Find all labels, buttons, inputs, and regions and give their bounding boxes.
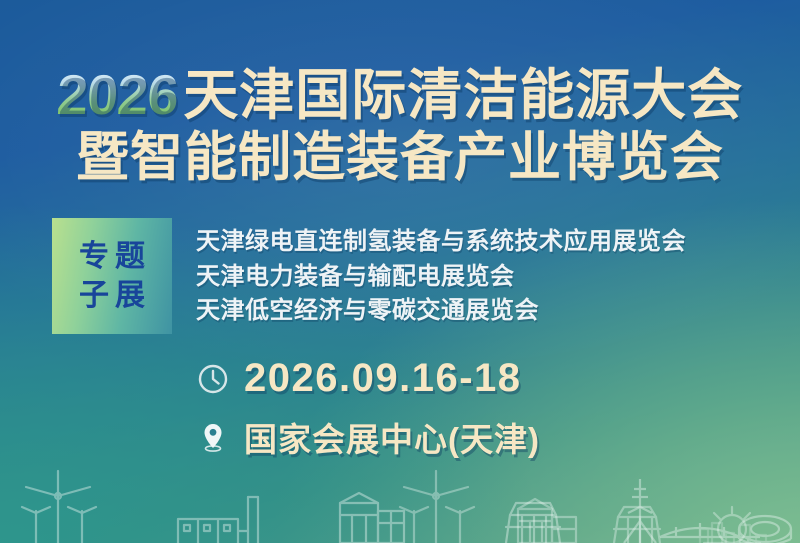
title-line-1: 2026天津国际清洁能源大会 <box>0 66 800 124</box>
industrial-building-icon-right <box>518 499 576 543</box>
solar-energy-icon <box>704 507 760 543</box>
stadium-icon <box>739 516 791 543</box>
badge-line-1: 专题 <box>73 241 151 273</box>
tv-tower-icon <box>624 479 656 543</box>
distant-skyline-icon <box>700 523 766 543</box>
event-year: 2026 <box>55 66 179 124</box>
city-skyline-silhouette-right <box>0 463 800 543</box>
event-date: 2026.09.16-18 <box>244 356 522 401</box>
event-info-block: 2026.09.16-18 国家会展中心(天津) <box>196 356 540 473</box>
city-skyline-silhouette <box>0 463 800 543</box>
title-line-2: 暨智能制造装备产业博览会 <box>0 130 800 185</box>
list-item: 天津绿电直连制氢装备与系统技术应用展览会 <box>196 229 686 256</box>
map-pin-icon <box>196 420 230 454</box>
clock-icon <box>196 362 230 396</box>
list-item: 天津电力装备与输配电展览会 <box>196 264 686 291</box>
event-date-row: 2026.09.16-18 <box>196 356 540 401</box>
topic-sub-exhibition-badge: 专题 子展 <box>52 218 172 334</box>
sub-exhibition-list: 天津绿电直连制氢装备与系统技术应用展览会 天津电力装备与输配电展览会 天津低空经… <box>196 218 686 334</box>
title-line-1-text: 天津国际清洁能源大会 <box>183 64 743 126</box>
power-plant-icon-right <box>614 507 660 543</box>
bridge-icon <box>660 523 760 543</box>
event-venue: 国家会展中心(天津) <box>244 413 540 461</box>
factory-icon <box>178 497 258 543</box>
list-item: 天津低空经济与零碳交通展览会 <box>196 298 686 325</box>
event-venue-row: 国家会展中心(天津) <box>196 413 540 461</box>
wind-turbine-icon-right <box>400 471 474 543</box>
wind-turbine-icon <box>22 471 96 543</box>
power-plant-icon <box>506 503 560 543</box>
industrial-building-icon <box>340 493 404 543</box>
badge-line-2: 子展 <box>73 280 151 312</box>
sub-exhibition-block: 专题 子展 天津绿电直连制氢装备与系统技术应用展览会 天津电力装备与输配电展览会… <box>52 218 686 334</box>
event-poster: 2026天津国际清洁能源大会 暨智能制造装备产业博览会 专题 子展 天津绿电直连… <box>0 0 800 543</box>
poster-title-block: 2026天津国际清洁能源大会 暨智能制造装备产业博览会 <box>0 66 800 185</box>
